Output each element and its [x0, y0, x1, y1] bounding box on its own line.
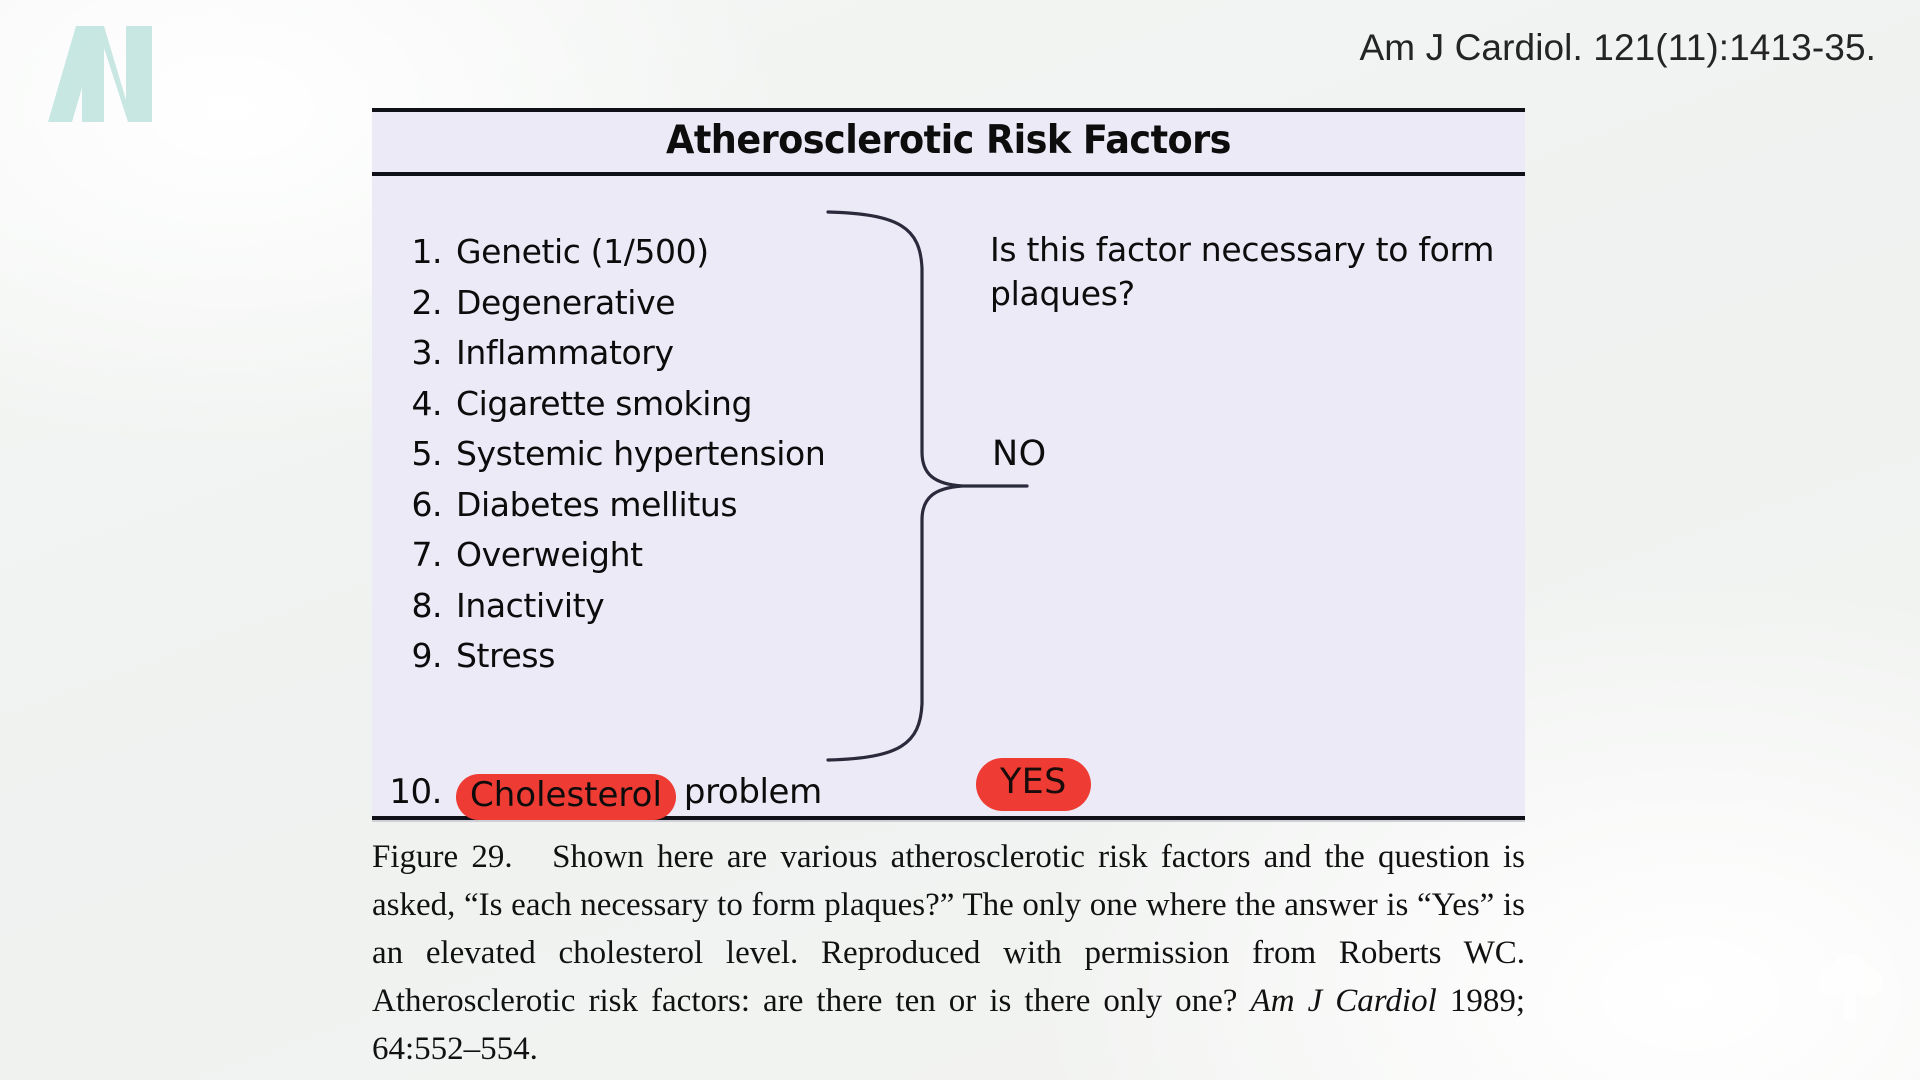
list-item-number: 9. [380, 636, 456, 675]
list-item: 1. Genetic (1/500) [380, 232, 850, 283]
answer-yes-pill: YES [976, 758, 1091, 811]
list-item: 7. Overweight [380, 535, 850, 586]
answer-no: NO [992, 434, 1047, 474]
list-item-number: 7. [380, 535, 456, 574]
list-item-label: Overweight [456, 535, 643, 574]
list-item-number: 1. [380, 232, 456, 271]
list-item: 3. Inflammatory [380, 333, 850, 384]
list-item-label: Stress [456, 636, 555, 675]
slide-body: 1. Genetic (1/500) 2. Degenerative 3. In… [372, 176, 1525, 816]
list-item-number: 8. [380, 586, 456, 625]
cholesterol-highlight-label: Cholesterol [470, 775, 662, 815]
list-item-number: 6. [380, 485, 456, 524]
list-item-number: 4. [380, 384, 456, 423]
list-item-label: Genetic (1/500) [456, 232, 709, 271]
letter-n-logo [30, 14, 190, 134]
risk-factor-list: 1. Genetic (1/500) 2. Degenerative 3. In… [380, 232, 850, 687]
list-item: 6. Diabetes mellitus [380, 485, 850, 536]
list-item-label: Degenerative [456, 283, 675, 322]
figure-panel: Atherosclerotic Risk Factors 1. Genetic … [372, 108, 1525, 820]
slide-title: Atherosclerotic Risk Factors [666, 118, 1231, 163]
cholesterol-highlight-pill: Cholesterol [456, 774, 676, 820]
list-item-label: Diabetes mellitus [456, 485, 737, 524]
list-item: 4. Cigarette smoking [380, 384, 850, 435]
list-item-number: 2. [380, 283, 456, 322]
list-item: 5. Systemic hypertension [380, 434, 850, 485]
slide-title-row: Atherosclerotic Risk Factors [372, 112, 1525, 172]
list-item-number: 3. [380, 333, 456, 372]
caption-journal-name: Am J Cardiol [1251, 983, 1437, 1019]
list-item: 8. Inactivity [380, 586, 850, 637]
list-item-label-rest: problem [676, 772, 822, 812]
list-item-number: 5. [380, 434, 456, 473]
question-text: Is this factor necessary to form plaques… [990, 228, 1510, 315]
list-item-label: Systemic hypertension [456, 434, 825, 473]
caption-lead: Figure 29. [372, 839, 513, 875]
list-item-cholesterol: 10. Cholesterol problem [380, 771, 822, 817]
list-item: 2. Degenerative [380, 283, 850, 334]
slide-panel: Atherosclerotic Risk Factors 1. Genetic … [372, 112, 1525, 816]
list-item-label: Inactivity [456, 586, 604, 625]
figure-caption: Figure 29. Shown here are various athero… [372, 833, 1525, 1073]
journal-citation: Am J Cardiol. 121(11):1413-35. [1360, 27, 1876, 69]
decorative-corner-glyph [1802, 940, 1898, 1032]
list-item-label: Inflammatory [456, 333, 674, 372]
list-item-number: 10. [380, 772, 456, 812]
list-item-label: Cigarette smoking [456, 384, 752, 423]
list-item: 9. Stress [380, 636, 850, 687]
